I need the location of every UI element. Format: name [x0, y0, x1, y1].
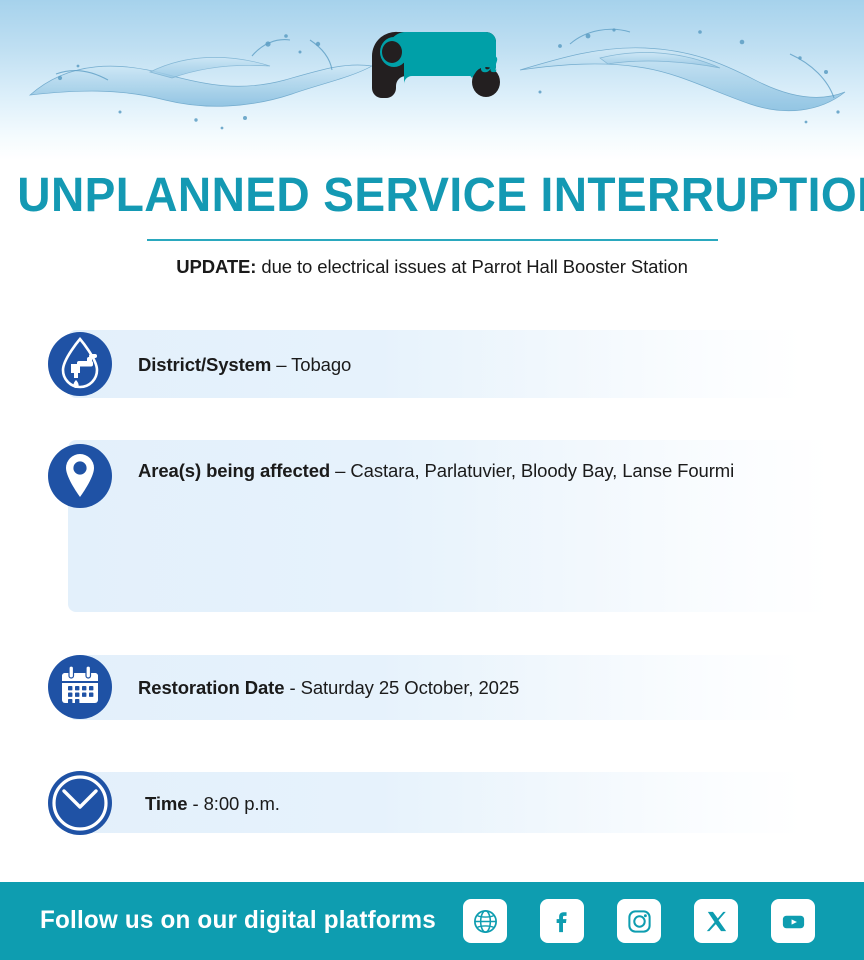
row-label-district: District/System: [138, 354, 271, 375]
water-drop-tap-icon: [47, 331, 113, 397]
title-divider: [147, 239, 718, 241]
row-separator-restoration: -: [284, 677, 300, 698]
wasa-logo: wasa: [368, 26, 508, 106]
footer-follow-text: Follow us on our digital platforms: [40, 906, 436, 935]
footer-bar: Follow us on our digital platforms: [0, 882, 864, 960]
row-value-restoration: Saturday 25 October, 2025: [301, 677, 520, 698]
subtitle: UPDATE: due to electrical issues at Parr…: [0, 256, 864, 278]
instagram-icon[interactable]: [617, 899, 661, 943]
row-separator-areas: –: [330, 460, 350, 481]
clock-icon: [47, 770, 113, 836]
facebook-icon[interactable]: [540, 899, 584, 943]
subtitle-text: due to electrical issues at Parrot Hall …: [256, 256, 687, 277]
map-pin-icon: [47, 443, 113, 509]
row-value-areas: Castara, Parlatuvier, Bloody Bay, Lanse …: [350, 460, 734, 481]
row-text-time: Time - 8:00 p.m.: [145, 791, 745, 818]
row-text-restoration: Restoration Date - Saturday 25 October, …: [138, 675, 738, 702]
row-text-district: District/System – Tobago: [138, 352, 738, 379]
page-title: UNPLANNED SERVICE INTERRUPTION: [17, 168, 846, 223]
row-label-restoration: Restoration Date: [138, 677, 284, 698]
row-value-district: Tobago: [291, 354, 351, 375]
social-links: [463, 899, 815, 943]
x-twitter-icon[interactable]: [694, 899, 738, 943]
row-separator-time: -: [187, 793, 203, 814]
subtitle-label: UPDATE:: [176, 256, 256, 277]
website-globe-icon[interactable]: [463, 899, 507, 943]
row-separator-district: –: [271, 354, 291, 375]
youtube-icon[interactable]: [771, 899, 815, 943]
row-text-areas: Area(s) being affected – Castara, Parlat…: [138, 458, 778, 485]
row-value-time: 8:00 p.m.: [204, 793, 280, 814]
header-banner: wasa: [0, 0, 864, 160]
calendar-icon: [47, 654, 113, 720]
service-interruption-notice: wasa UNPLANNED SERVICE INTERRUPTION UPDA…: [0, 0, 864, 960]
row-label-areas: Area(s) being affected: [138, 460, 330, 481]
row-label-time: Time: [145, 793, 187, 814]
